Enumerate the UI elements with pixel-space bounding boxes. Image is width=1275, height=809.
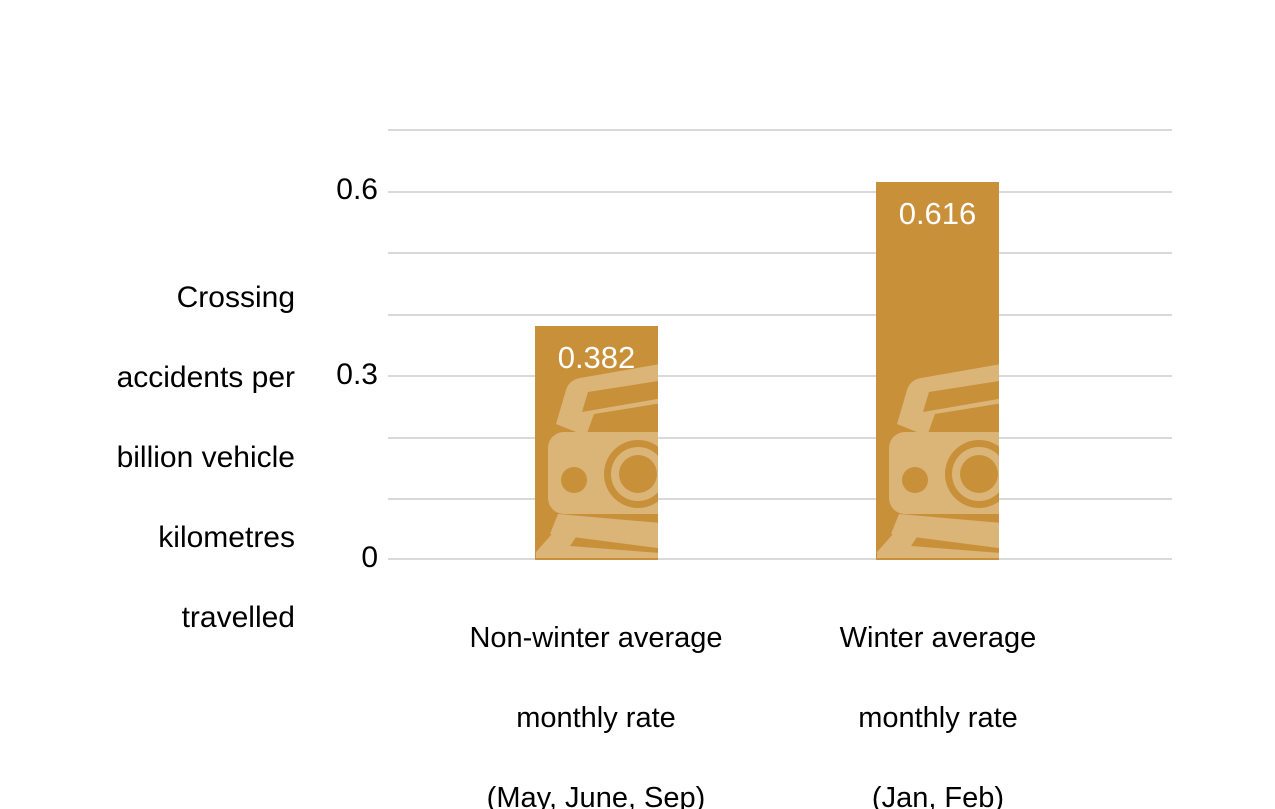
category-label-line-3: (Jan, Feb) bbox=[758, 778, 1118, 809]
y-tick-label-0.3: 0.3 bbox=[258, 360, 378, 390]
bar-value-label: 0.616 bbox=[876, 196, 999, 232]
category-label-line-1: Non-winter average bbox=[416, 618, 776, 658]
bar-winter[interactable]: 0.616 bbox=[876, 182, 999, 560]
y-axis-tick-labels: 0.6 0.3 0 bbox=[248, 129, 378, 560]
bar-non-winter[interactable]: 0.382 bbox=[535, 326, 658, 560]
category-label-winter: Winter average monthly rate (Jan, Feb) bbox=[758, 578, 1118, 809]
bar-fill bbox=[876, 182, 999, 560]
category-label-line-2: monthly rate bbox=[416, 698, 776, 738]
y-tick-label-0.6: 0.6 bbox=[258, 175, 378, 205]
bars-layer: 0.382 0.616 bbox=[388, 129, 1172, 560]
bar-value-label: 0.382 bbox=[535, 340, 658, 376]
category-label-line-1: Winter average bbox=[758, 618, 1118, 658]
y-tick-label-0: 0 bbox=[258, 543, 378, 573]
category-label-line-3: (May, June, Sep) bbox=[416, 778, 776, 809]
category-label-line-2: monthly rate bbox=[758, 698, 1118, 738]
y-axis-title-line-5: travelled bbox=[60, 598, 295, 638]
bar-chart: Crossing accidents per billion vehicle k… bbox=[0, 0, 1275, 809]
category-label-non-winter: Non-winter average monthly rate (May, Ju… bbox=[416, 578, 776, 809]
x-axis-category-labels: Non-winter average monthly rate (May, Ju… bbox=[388, 578, 1172, 708]
